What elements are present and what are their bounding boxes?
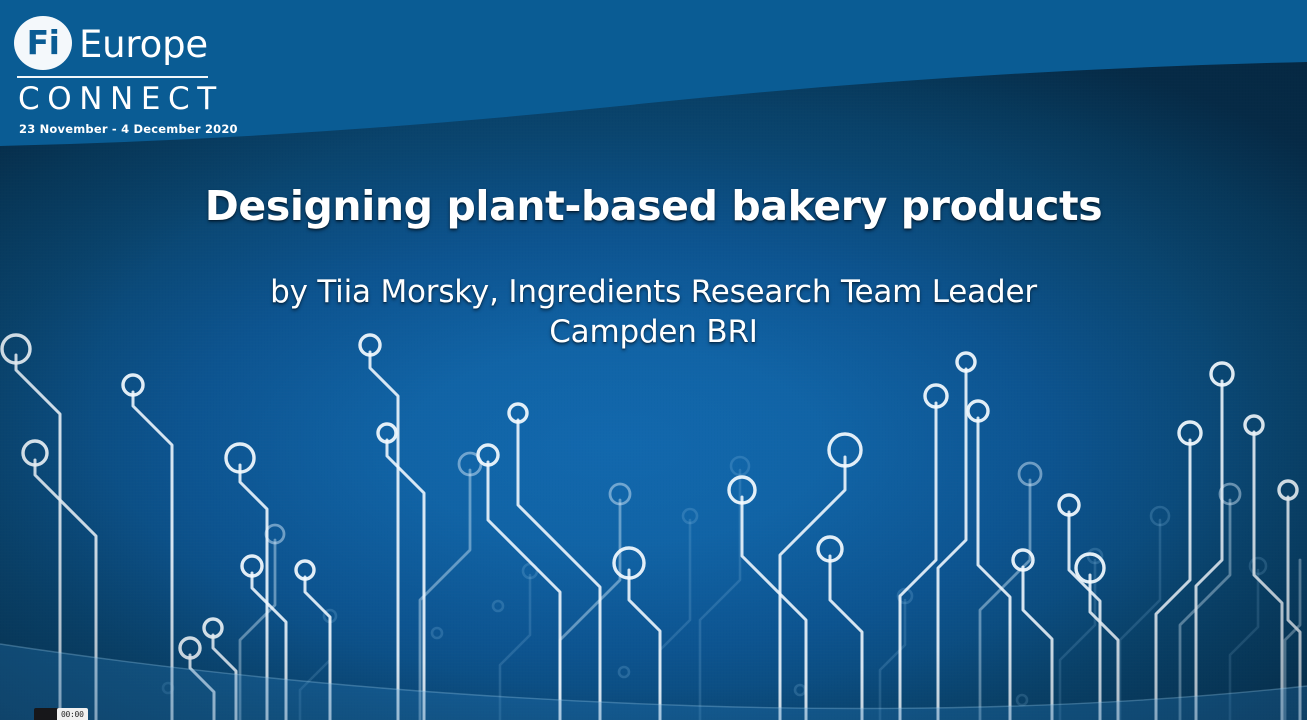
fi-badge-label: Fi bbox=[27, 26, 60, 59]
brand-name-europe: Europe bbox=[79, 26, 208, 63]
logo-primary-row: Fi Europe bbox=[14, 13, 234, 73]
logo-divider-rule bbox=[17, 76, 208, 78]
brand-wordmark-connect: CONNECT bbox=[18, 83, 234, 116]
presentation-slide: Fi Europe CONNECT 23 November - 4 Decemb… bbox=[0, 0, 1307, 720]
event-dates: 23 November - 4 December 2020 bbox=[19, 122, 234, 136]
brand-logo[interactable]: Fi Europe CONNECT 23 November - 4 Decemb… bbox=[14, 13, 234, 136]
fi-badge-icon: Fi bbox=[14, 16, 72, 70]
